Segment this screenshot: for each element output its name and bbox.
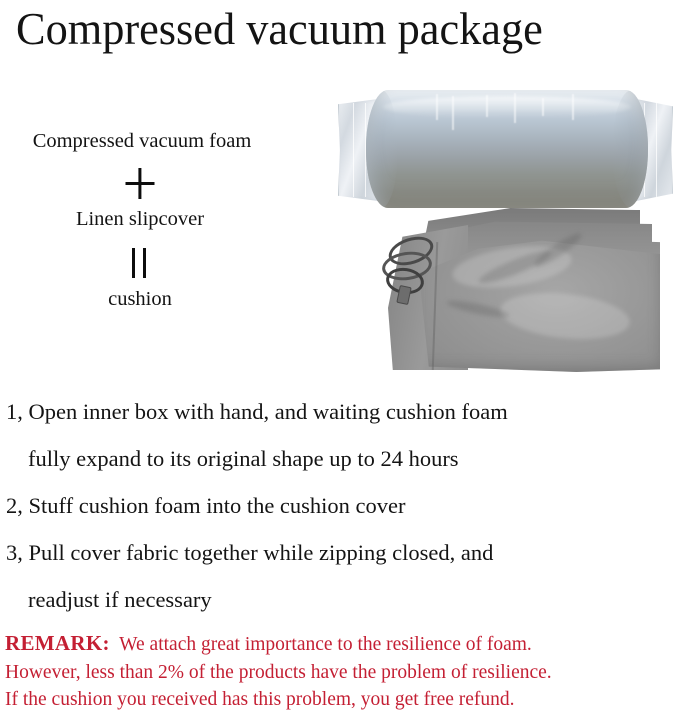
instruction-step-3-line-2: readjust if necessary — [0, 576, 679, 623]
remark-text-line-3: If the cushion you received has this pro… — [5, 686, 679, 714]
compressed-foam-cylinder — [366, 90, 648, 208]
zipper-pull-cord-icon — [380, 236, 440, 308]
formula-item-cushion: cushion — [0, 286, 280, 312]
remark-label: REMARK: — [5, 631, 110, 655]
page-title: Compressed vacuum package — [16, 0, 656, 58]
vacuum-sealed-foam-roll-photo — [338, 90, 673, 208]
product-instruction-graphic: Compressed vacuum package Compressed vac… — [0, 0, 679, 717]
instruction-step-1-line-1: 1, Open inner box with hand, and waiting… — [0, 388, 679, 435]
instruction-step-1-line-2: fully expand to its original shape up to… — [0, 435, 679, 482]
instruction-step-2-line-1: 2, Stuff cushion foam into the cushion c… — [0, 482, 679, 529]
remark-first-line: REMARK: We attach great importance to th… — [5, 630, 679, 659]
formula-item-slipcover: Linen slipcover — [0, 206, 280, 232]
remark-text-line-2: However, less than 2% of the products ha… — [5, 659, 679, 687]
remark-text-line-1: We attach great importance to the resili… — [119, 634, 532, 655]
formula-item-foam: Compressed vacuum foam — [4, 128, 280, 154]
instruction-step-3-line-1: 3, Pull cover fabric together while zipp… — [0, 529, 679, 576]
instruction-list: 1, Open inner box with hand, and waiting… — [0, 388, 679, 623]
folded-linen-slipcover-photo — [380, 208, 670, 376]
remark-block: REMARK: We attach great importance to th… — [5, 630, 679, 714]
formula-block: Compressed vacuum foam Linen slipcover c… — [0, 128, 280, 312]
equals-icon — [0, 242, 280, 284]
plus-icon — [0, 164, 280, 204]
